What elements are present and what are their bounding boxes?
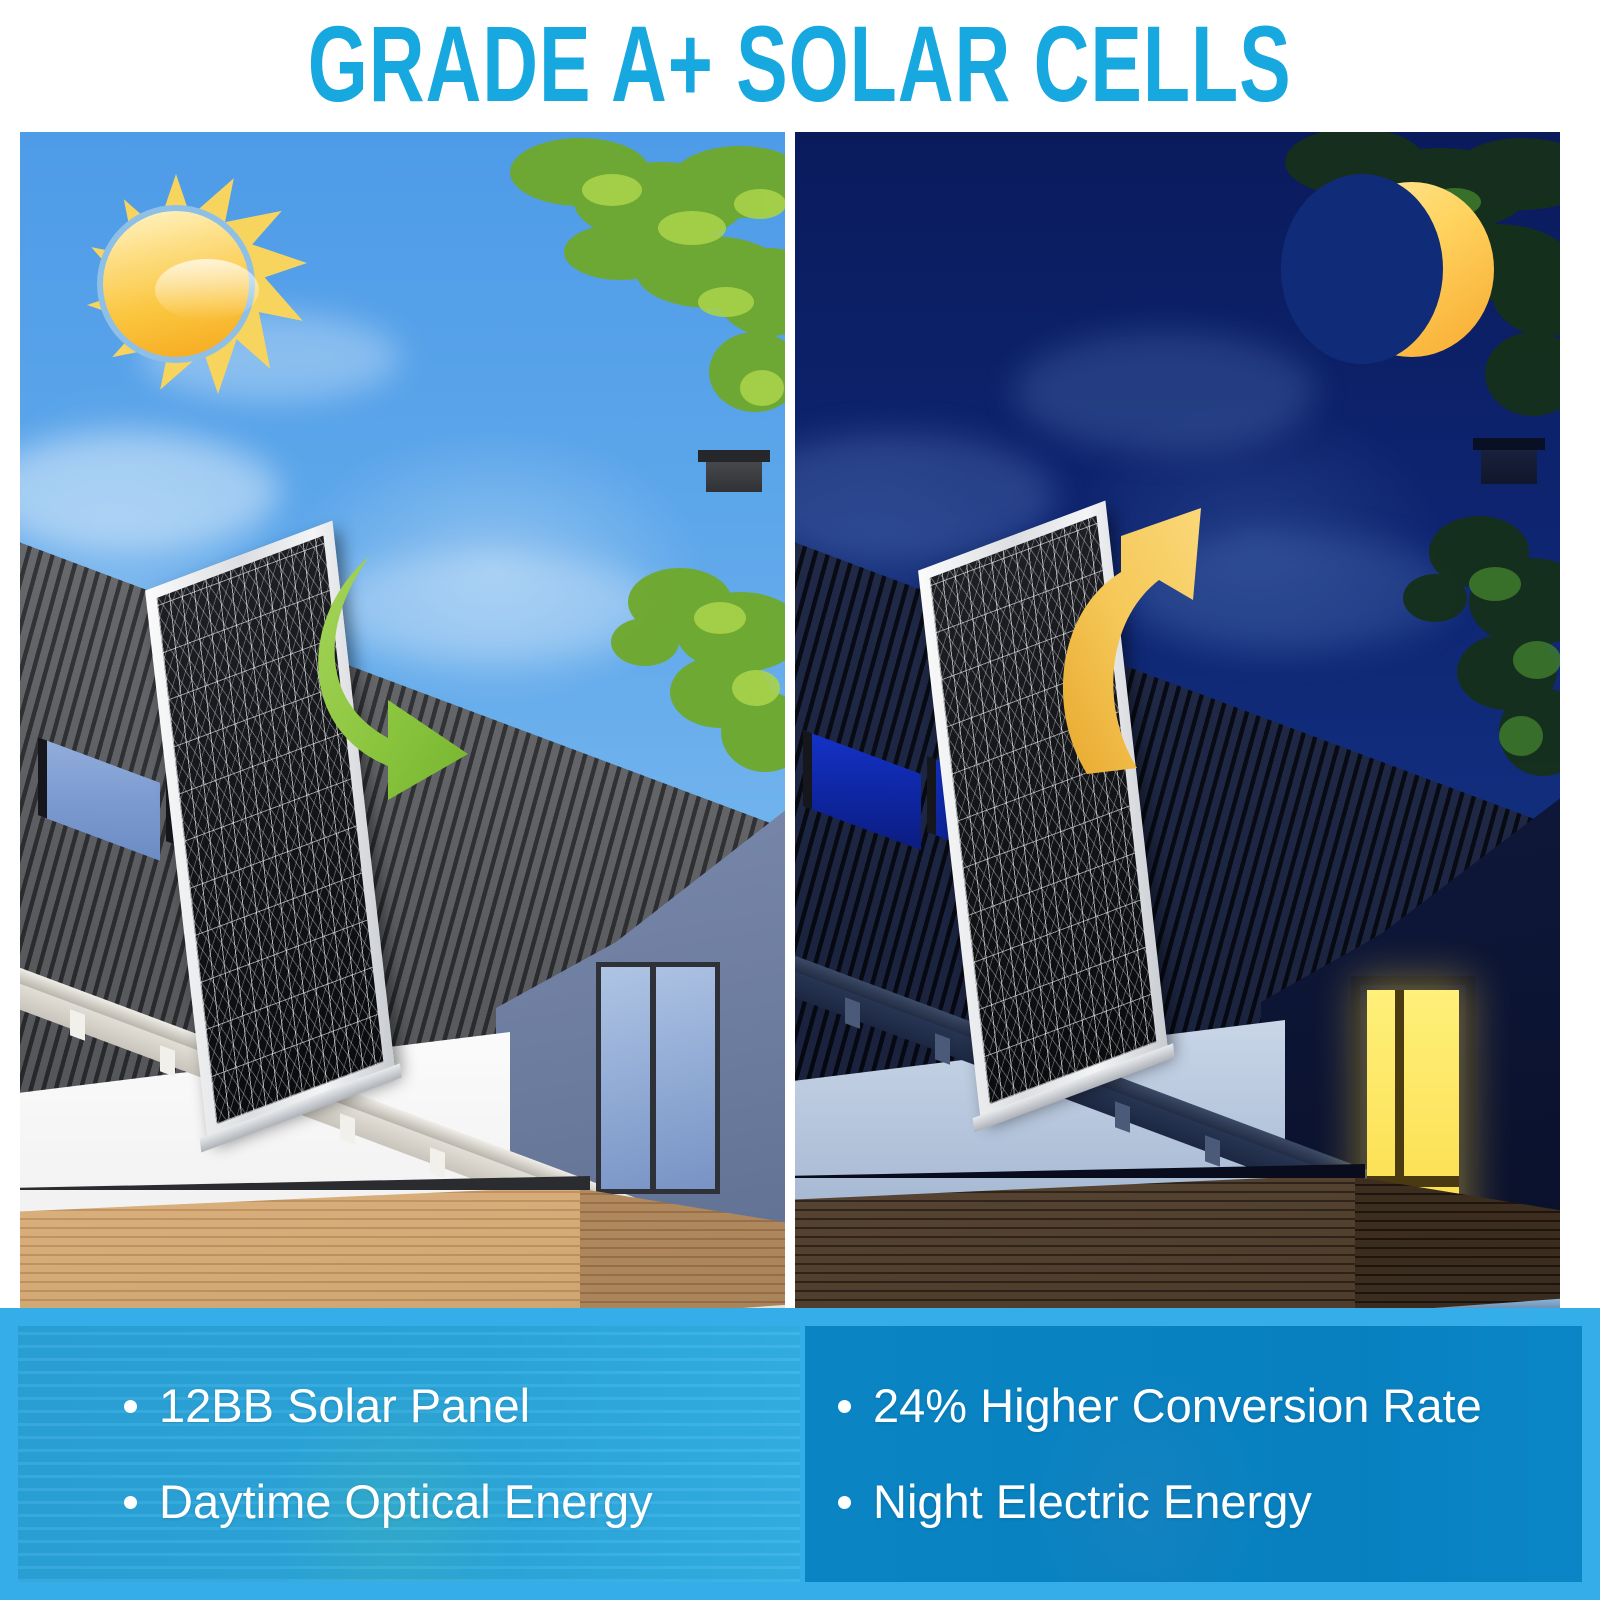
banner-right-column: 24% Higher Conversion Rate Night Electri…	[800, 1326, 1582, 1582]
bullet-label: Night Electric Energy	[873, 1476, 1312, 1528]
bullet-dot-icon	[124, 1400, 137, 1413]
energy-in-arrow-day	[282, 542, 562, 802]
page-title: GRADE A+ SOLAR CELLS	[308, 10, 1292, 118]
bullet-label: 12BB Solar Panel	[159, 1380, 530, 1432]
product-feature-graphic: GRADE A+ SOLAR CELLS	[0, 0, 1600, 1600]
list-item: 12BB Solar Panel	[124, 1380, 800, 1432]
upper-window-day	[596, 962, 720, 1194]
bullet-label: Daytime Optical Energy	[159, 1476, 653, 1528]
bullet-dot-icon	[838, 1496, 851, 1509]
banner-left-column: 12BB Solar Panel Daytime Optical Energy	[18, 1326, 800, 1582]
banner-divider	[800, 1326, 805, 1582]
bullet-dot-icon	[124, 1496, 137, 1509]
title-bar: GRADE A+ SOLAR CELLS	[0, 0, 1600, 128]
list-item: Daytime Optical Energy	[124, 1476, 800, 1528]
list-item: 24% Higher Conversion Rate	[838, 1380, 1582, 1432]
energy-out-arrow-night	[1045, 492, 1295, 792]
bullet-dot-icon	[838, 1400, 851, 1413]
bullet-label: 24% Higher Conversion Rate	[873, 1380, 1482, 1432]
list-item: Night Electric Energy	[838, 1476, 1582, 1528]
feature-banner: 12BB Solar Panel Daytime Optical Energy …	[0, 1308, 1600, 1600]
sun-icon	[66, 174, 286, 394]
moon-icon	[1329, 182, 1494, 357]
